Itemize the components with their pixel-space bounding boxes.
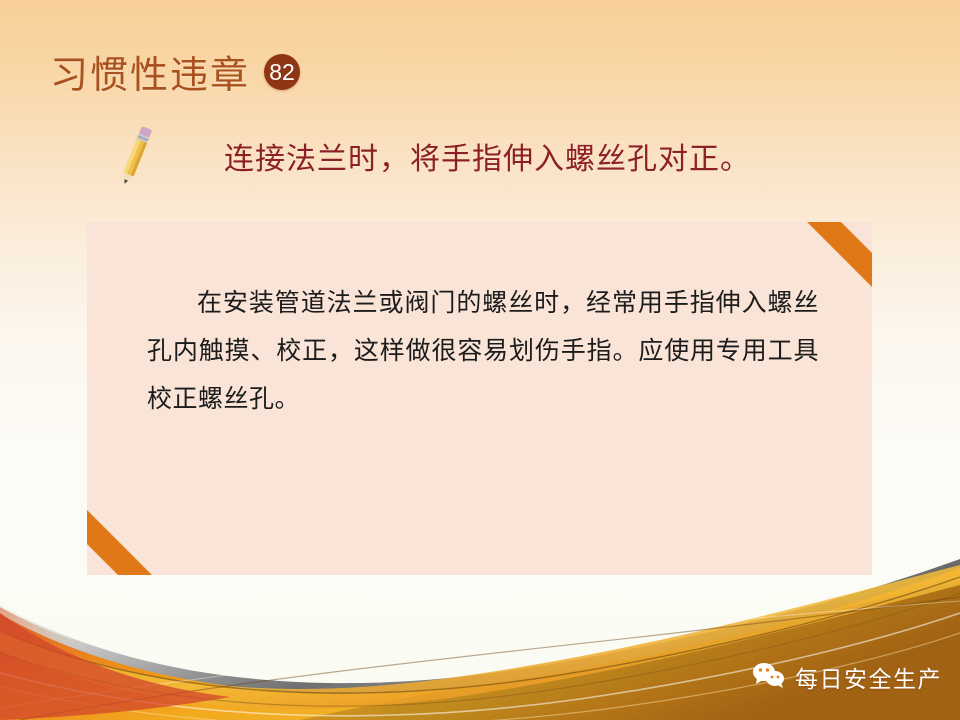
slide-title-row: 习惯性违章 82 [50, 44, 300, 99]
wechat-label: 每日安全生产 [795, 660, 942, 694]
wechat-icon [752, 661, 786, 694]
wechat-footer: 每日安全生产 [752, 660, 942, 694]
slide-subtitle: 连接法兰时，将手指伸入螺丝孔对正。 [224, 134, 751, 178]
slide-canvas: 习惯性违章 82 连接法兰时，将手指伸入螺丝孔对正。 [0, 0, 960, 720]
pencil-icon [108, 124, 164, 190]
page-title: 习惯性违章 [50, 44, 250, 99]
status-badge: 82 [264, 54, 300, 90]
card-body-text: 在安装管道法兰或阀门的螺丝时，经常用手指伸入螺丝孔内触摸、校正，这样做很容易划伤… [147, 280, 819, 424]
content-card: 在安装管道法兰或阀门的螺丝时，经常用手指伸入螺丝孔内触摸、校正，这样做很容易划伤… [87, 222, 872, 575]
